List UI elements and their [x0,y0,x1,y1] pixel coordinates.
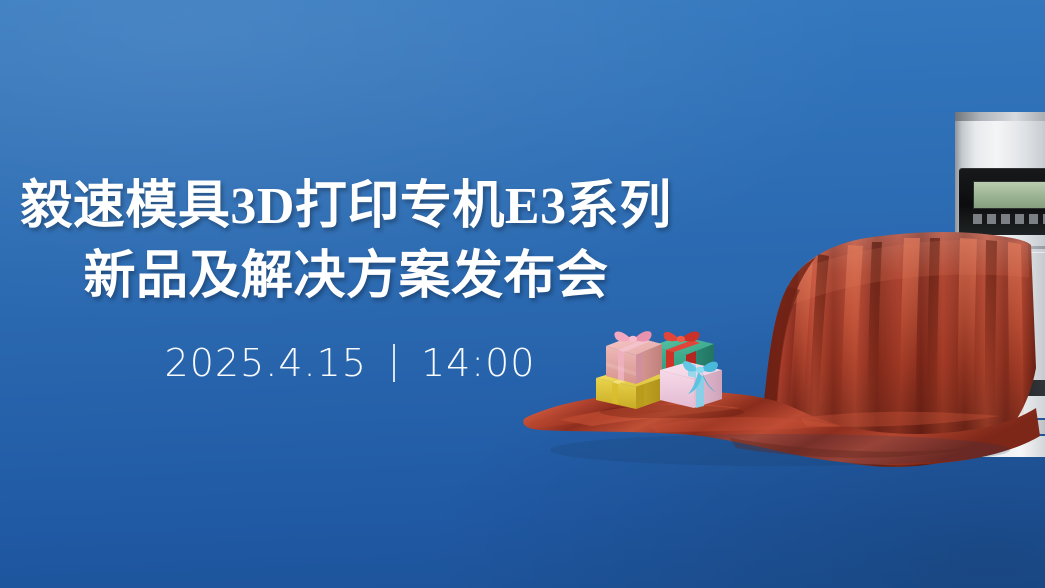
page-title-line-2: 新品及解决方案发布会 [0,242,700,312]
event-datetime: 2025.4.15 14:00 [0,344,700,382]
page-title-line-1: 毅速模具3D打印专机E3系列 [0,172,700,242]
event-date: 2025.4.15 [165,344,367,382]
drape-ground-shadow [550,434,1010,466]
datetime-divider [393,344,395,382]
event-time: 14:00 [421,344,536,382]
headline-block: 毅速模具3D打印专机E3系列 新品及解决方案发布会 [0,172,700,312]
gift-ground-shadow [600,405,744,418]
event-poster: 毅速模具3D打印专机E3系列 新品及解决方案发布会 2025.4.15 14:0… [0,0,1045,588]
